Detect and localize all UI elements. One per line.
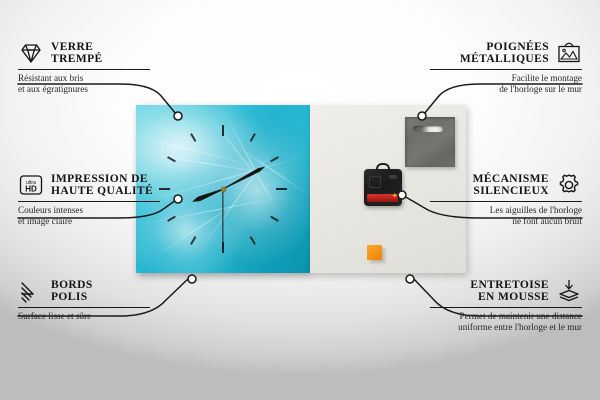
mechanism-hanging-loop: [376, 163, 390, 172]
feature-title: POIGNÉES MÉTALLIQUES: [460, 41, 549, 66]
feature-callout-bords-polis: BORDS POLIS Surface lisse et sûre: [18, 278, 150, 322]
svg-text:HD: HD: [25, 185, 37, 194]
title-divider: [430, 69, 582, 70]
clock-center-cap: [221, 187, 226, 192]
feature-title: VERRE TREMPÉ: [51, 41, 103, 66]
title-divider: [18, 307, 150, 308]
foam-spacer-square: [367, 245, 382, 260]
feature-title: IMPRESSION DE HAUTE QUALITÉ: [51, 173, 153, 198]
feature-callout-poignees-metalliques: POIGNÉES MÉTALLIQUES Facilite le montage…: [430, 40, 582, 94]
wall-mount-frame-icon: [556, 40, 582, 66]
feature-description: Facilite le montage de l'horloge sur le …: [430, 73, 582, 94]
feature-title: BORDS POLIS: [51, 279, 93, 304]
mechanism-housing-detail: [369, 176, 381, 188]
product-image: [136, 105, 466, 273]
feature-callout-mecanisme-silencieux: MÉCANISME SILENCIEUX Les aiguilles de l'…: [430, 172, 582, 226]
feature-callout-verre-trempe: VERRE TREMPÉ Résistant aux bris et aux é…: [18, 40, 150, 94]
diamond-icon: [18, 40, 44, 66]
feature-title: ENTRETOISE EN MOUSSE: [470, 279, 549, 304]
clock-front-panel: [136, 105, 310, 273]
title-divider: [18, 69, 150, 70]
mechanism-switch-detail: [389, 175, 397, 179]
title-divider: [430, 201, 582, 202]
wire-endpoint-entretoise: [406, 275, 414, 283]
title-divider: [430, 307, 582, 308]
foam-spacer-arrow-icon: [556, 278, 582, 304]
feature-title: MÉCANISME SILENCIEUX: [473, 173, 549, 198]
infographic-canvas: VERRE TREMPÉ Résistant aux bris et aux é…: [0, 0, 600, 400]
feature-description: Surface lisse et sûre: [18, 311, 150, 322]
feature-description: Couleurs intenses et image claire: [18, 205, 160, 226]
feature-description: Résistant aux bris et aux égratignures: [18, 73, 150, 94]
feature-description: Les aiguilles de l'horloge ne font aucun…: [430, 205, 582, 226]
battery: [367, 194, 398, 202]
ultra-hd-icon: ultra HD: [18, 172, 44, 198]
feature-callout-impression-haute-qualite: ultra HD IMPRESSION DE HAUTE QUALITÉ Cou…: [18, 172, 160, 226]
clock-mechanism: [364, 169, 402, 206]
title-divider: [18, 201, 160, 202]
feature-callout-entretoise-en-mousse: ENTRETOISE EN MOUSSE Permet de maintenir…: [430, 278, 582, 332]
metal-hanging-plate: [405, 117, 455, 167]
wire-endpoint-bords-polis: [188, 275, 196, 283]
polished-edges-icon: [18, 278, 44, 304]
feature-description: Permet de maintenir une distance uniform…: [430, 311, 582, 332]
gear-icon: [556, 172, 582, 198]
